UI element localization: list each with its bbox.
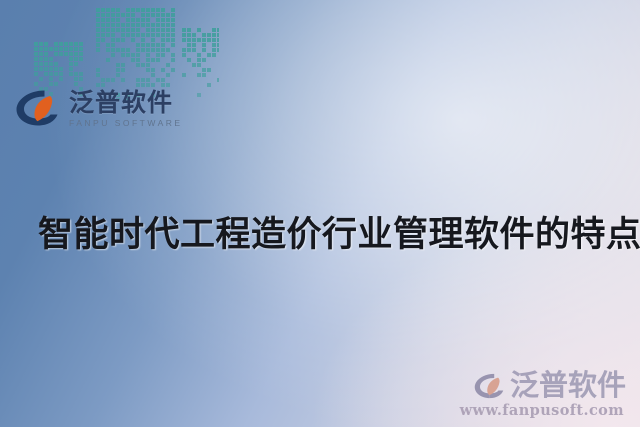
watermark-brand-row: 泛普软件 (450, 371, 626, 400)
page-title: 智能时代工程造价行业管理软件的特点 (38, 214, 614, 257)
fanpu-wave-mark-icon (14, 88, 60, 128)
watermark-url: www.fanpusoft.com (450, 402, 626, 419)
brand-text-block: 泛普软件 FANPU SOFTWARE (69, 89, 183, 128)
brand-name-cn: 泛普软件 (69, 89, 183, 116)
fanpu-wave-mark-watermark-icon (473, 372, 505, 400)
brand-name-en: FANPU SOFTWARE (69, 119, 183, 128)
watermark-brand-name: 泛普软件 (510, 371, 626, 400)
brand-logo: 泛普软件 FANPU SOFTWARE (14, 88, 183, 128)
promo-banner: 泛普软件 FANPU SOFTWARE 智能时代工程造价行业管理软件的特点 泛普… (0, 0, 640, 427)
pixelated-skyline-pattern (34, 0, 219, 100)
site-watermark: 泛普软件 www.fanpusoft.com (450, 371, 626, 419)
